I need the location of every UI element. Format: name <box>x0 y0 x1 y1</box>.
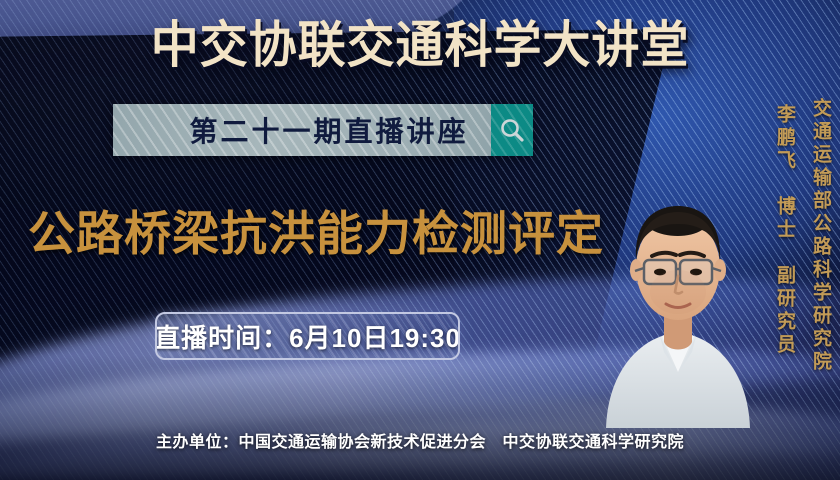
live-time-text: 直播时间：6月10日19:30 <box>155 318 460 355</box>
subtitle-fill: 第二十一期直播讲座 <box>113 104 491 156</box>
subtitle-text: 第二十一期直播讲座 <box>129 110 474 150</box>
subtitle-bar: 第二十一期直播讲座 <box>113 104 533 156</box>
speaker-photo <box>594 176 762 428</box>
live-time-badge: 直播时间：6月10日19:30 <box>155 312 460 360</box>
poster-header-title: 中交协联交通科学大讲堂 <box>17 16 823 74</box>
search-icon-box[interactable] <box>491 104 533 156</box>
poster-main-title: 公路桥梁抗洪能力检测评定 <box>28 205 604 263</box>
search-icon <box>499 117 525 143</box>
organizer-footer: 主办单位：中国交通运输协会新技术促进分会 中交协联交通科学研究院 <box>0 428 840 452</box>
speaker-name: 李鹏飞 博士 副研究员 <box>771 104 798 357</box>
speaker-organization: 交通运输部公路科学研究院 <box>807 98 834 374</box>
live-lecture-poster: 交通运输部公路科学研究院 李鹏飞 博士 副研究员 中交协联交通科学大讲堂 第二十… <box>0 0 840 480</box>
